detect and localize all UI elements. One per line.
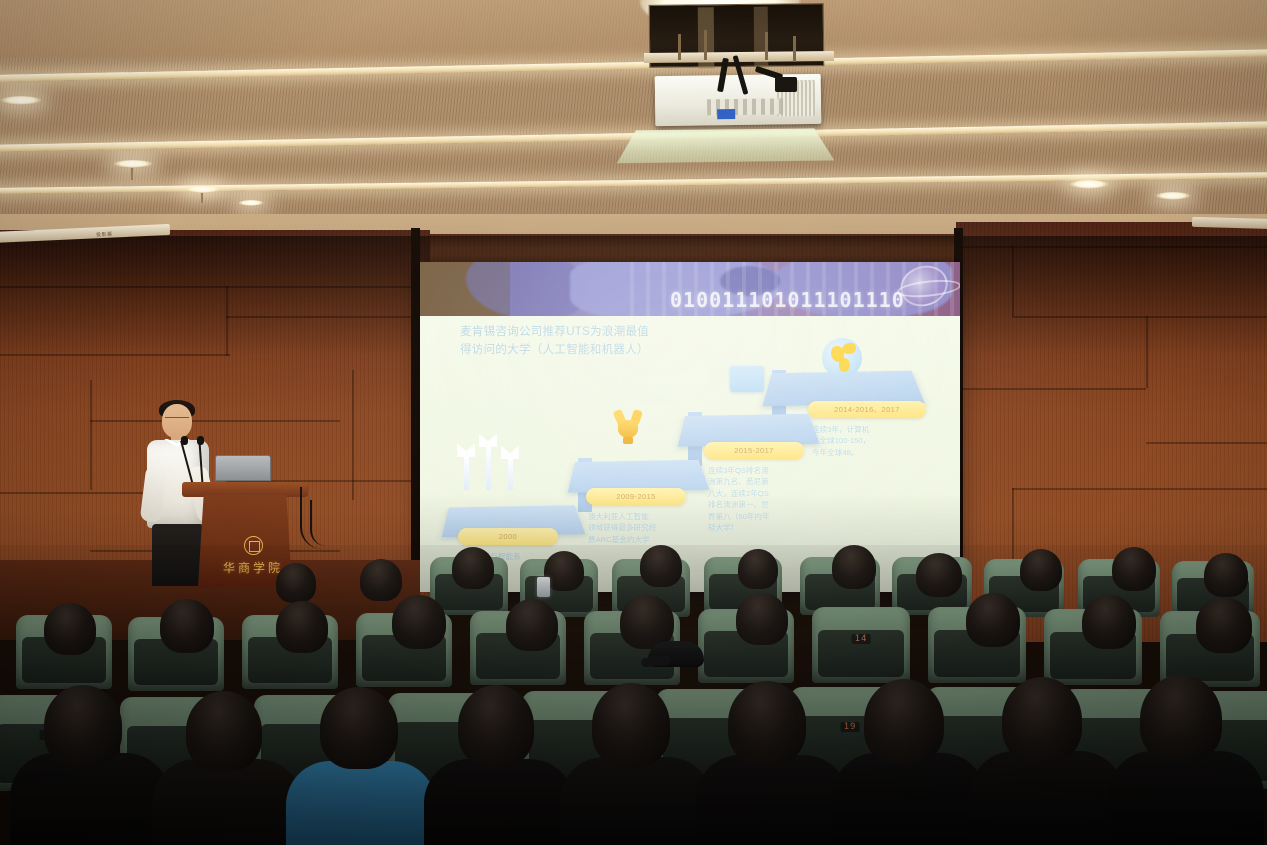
audience-head [544,551,584,591]
wall-panel-seam [352,370,354,500]
audience-head [1112,547,1156,591]
laptop-lid [215,455,271,481]
slide-title-line-2: 得访问的大学（人工智能和机器人） [460,342,750,360]
audience-head [452,547,494,589]
audience-shoulders [560,757,712,845]
raised-smartphone [537,577,550,597]
wall-panel-seam [226,316,430,318]
audience-head [44,603,96,655]
audience-head [44,685,122,767]
projector-mount-rod [678,34,681,60]
ceiling-downlight [113,160,153,168]
step-badge-3: 2015-2017 [704,442,804,459]
downlight-stem [201,193,203,203]
audience-head [276,563,316,603]
audience-head [1196,597,1252,653]
trophy-cup [618,420,638,438]
lecture-hall-photo: 投影幕 010011101011101110 麦肯锡咨询公司推荐UTS为浪潮最值… [0,0,1267,845]
projector-mount-rod [704,30,707,60]
stage-cable [310,500,326,546]
step-caption-2: 澳大利亚人工智能 领域获得最多研究经 费ARC基金的大学 [588,511,684,545]
wall-panel-seam [1012,488,1267,490]
ceiling-downlight [0,96,42,105]
audience-shoulders [696,755,848,845]
audience-shoulders [424,759,574,845]
globe-landmass [839,358,850,372]
audience-shoulders [152,759,302,845]
globe-landmass [842,343,856,354]
audience-head [392,595,446,649]
audience-head [640,545,682,587]
downlight-stem [131,168,133,180]
audience-head [360,559,402,601]
microphone-head [197,436,204,445]
audience-head [458,685,534,767]
step-badge-1: 2000 [458,528,558,545]
wall-panel-seam [956,388,1146,390]
step-caption-4: 连续3年，计算机 在全球100-150， 今年全球48。 [812,424,920,458]
audience-shoulders [1108,751,1264,845]
projector-light-beam [617,128,835,163]
audience-shoulders [832,753,986,845]
projection-screen: 010011101011101110 麦肯锡咨询公司推荐UTS为浪潮最值 得访问… [420,262,960,592]
wall-panel-seam [1012,246,1014,316]
roller-brand-label: 投影幕 [96,231,113,239]
ceiling [0,0,1267,240]
audience-head [592,683,670,767]
apple-logo-icon [240,465,248,474]
podium-top-surface [182,482,308,497]
blue-card-icon [730,366,764,392]
wall-panel-seam [0,286,430,288]
step-caption-3: 连续3年QS排名澳 洲第九名、悉尼第 八大，连续2年QS 排名澳洲第一、世 界第… [708,465,800,533]
audience-head [1140,675,1222,763]
presentation-slide: 010011101011101110 麦肯锡咨询公司推荐UTS为浪潮最值 得访问… [420,262,960,592]
audience-head [1082,595,1136,649]
audience-head [1020,549,1062,591]
seat: 14 [812,607,910,683]
audience-head [276,601,328,653]
wind-turbines-icon [456,442,534,490]
audience-head [728,681,806,765]
projector-vga-port [717,109,735,119]
globe-icon [822,338,862,378]
wall-panel-seam [956,246,1267,248]
wall-panel-seam [1146,442,1267,444]
wall-panel-seam [1012,316,1267,318]
projector-connector-box [775,77,797,92]
audience-head [320,687,398,769]
wall-panel-seam [0,354,230,356]
black-baseball-cap [648,641,704,667]
seat-number: 19 [841,722,860,732]
slide-title-line-1: 麦肯锡咨询公司推荐UTS为浪潮最值 [460,324,750,342]
audience-shoulders [970,751,1124,845]
wall-panel-seam [1146,316,1148,388]
trophy-icon [616,410,642,444]
audience-head [1204,553,1248,597]
presenter-glasses [165,417,189,422]
slide-title: 麦肯锡咨询公司推荐UTS为浪潮最值 得访问的大学（人工智能和机器人） [460,324,750,360]
trophy-base [623,437,633,444]
step-badge-4: 2014-2016、2017 [808,401,926,418]
projector-mount-rod [765,32,768,60]
ceiling-downlight [1155,192,1191,200]
audience-head [966,593,1020,647]
projector-mount-rod [793,36,796,62]
seat-number: 14 [852,634,871,644]
wind-turbine [486,446,491,490]
audience-head [736,593,788,645]
audience-area: 14 19 19 [0,545,1267,845]
audience-head [864,679,944,765]
audience-head [186,691,262,771]
slide-header-banner: 010011101011101110 [420,262,960,316]
laptop [215,455,271,485]
audience-head [738,549,778,589]
audience-head [506,599,558,651]
wall-wood-center [418,234,966,264]
audience-head [1002,677,1082,763]
ceiling-upper-band [0,0,1267,58]
wind-turbine [464,456,469,490]
audience-shoulders [286,761,436,845]
wall-panel-seam [90,380,92,490]
wind-turbine [508,458,513,490]
audience-head [160,599,214,653]
audience-head [916,553,962,597]
audience-head [832,545,876,589]
ceiling-downlight [186,186,220,193]
wall-panel-seam [226,286,228,356]
step-badge-2: 2009-2015 [586,488,686,505]
binary-digits-text: 010011101011101110 [670,288,905,312]
microphone-head [181,436,188,445]
ceiling-downlight [238,200,264,206]
ceiling-downlight [1069,180,1109,189]
